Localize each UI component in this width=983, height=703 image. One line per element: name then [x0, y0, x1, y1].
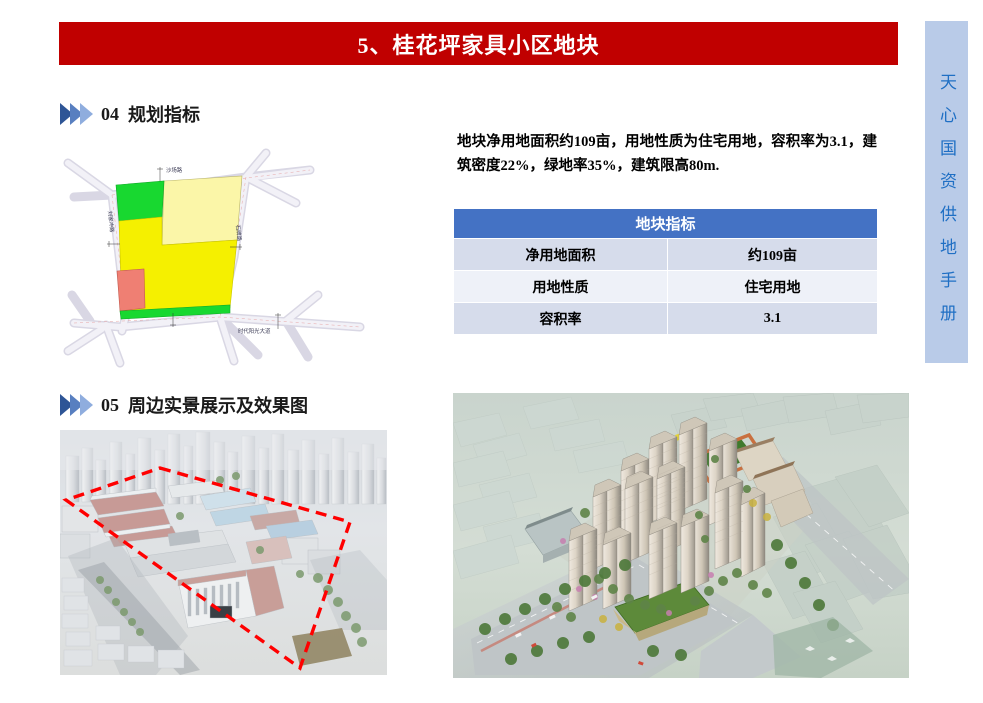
table-cell-key: 容积率	[454, 303, 668, 335]
table-cell-value: 约109亩	[668, 239, 878, 271]
table-cell-key: 用地性质	[454, 271, 668, 303]
table-cell-value: 住宅用地	[668, 271, 878, 303]
map-road-label-bottom: 时代阳光大道	[238, 327, 271, 335]
table-row: 容积率 3.1	[454, 303, 878, 335]
aerial-site-photo	[60, 430, 387, 675]
table-row: 净用地面积 约109亩	[454, 239, 878, 271]
section-title: 周边实景展示及效果图	[128, 392, 308, 418]
double-chevron-right-icon	[60, 103, 90, 125]
map-road-label-top: 沙场路	[166, 166, 183, 174]
section-heading-planning-indicators: 04 规划指标	[60, 101, 200, 127]
indicator-table: 地块指标 净用地面积 约109亩 用地性质 住宅用地 容积率 3.1	[453, 208, 878, 335]
table-header-title: 地块指标	[454, 209, 878, 239]
table-row: 用地性质 住宅用地	[454, 271, 878, 303]
section-number: 04	[101, 104, 119, 125]
development-rendering-image	[453, 393, 909, 678]
side-tab-label: 天心国资供地手册	[929, 73, 964, 337]
page-title: 5、桂花坪家具小区地块	[357, 28, 599, 60]
table-cell-value: 3.1	[668, 303, 878, 335]
double-chevron-right-icon	[60, 394, 90, 416]
planning-indicator-description: 地块净用地面积约109亩，用地性质为住宅用地，容积率为3.1，建筑密度22%，绿…	[457, 130, 877, 178]
page-title-banner: 5、桂花坪家具小区地块	[59, 22, 898, 65]
side-tab-handbook[interactable]: 天心国资供地手册	[925, 21, 968, 363]
table-header-row: 地块指标	[454, 209, 878, 239]
section-number: 05	[101, 395, 119, 416]
section-title: 规划指标	[128, 101, 200, 127]
parcel-plan-map: 沙场路 刘家冲路 石牌路 时代阳光大道	[60, 145, 382, 375]
section-heading-surrounding-views: 05 周边实景展示及效果图	[60, 392, 308, 418]
table-cell-key: 净用地面积	[454, 239, 668, 271]
